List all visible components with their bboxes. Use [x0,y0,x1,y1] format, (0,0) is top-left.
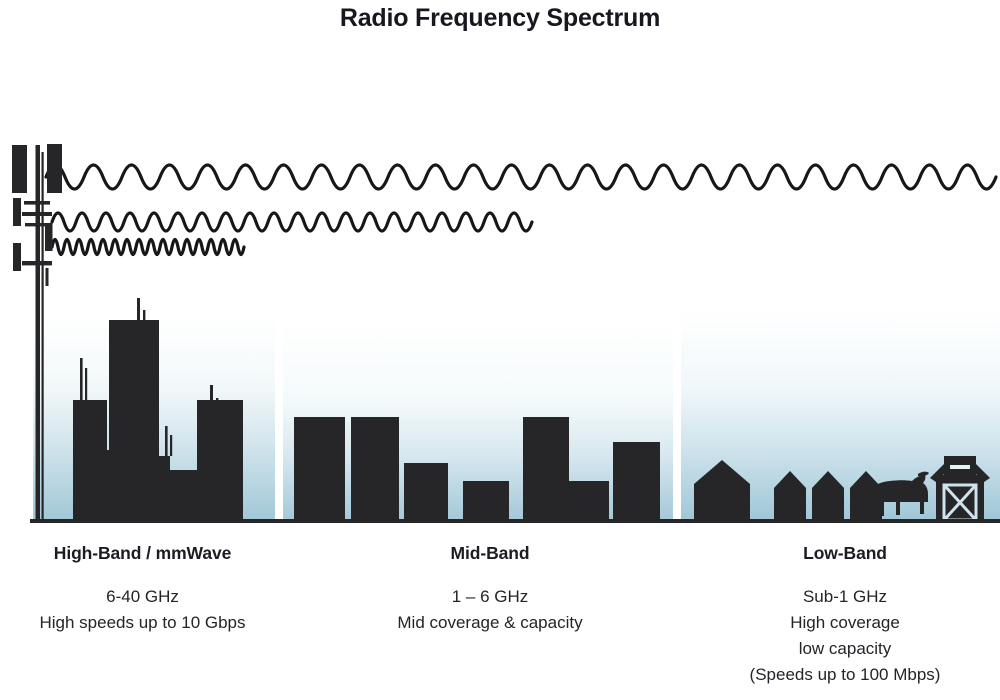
band-line-speed-low: (Speeds up to 100 Mbps) [690,662,1000,688]
building [161,470,201,520]
building [404,463,448,520]
building [109,320,159,520]
wave-mid-band [52,213,532,231]
building-antenna [165,426,168,456]
building [613,442,660,520]
tower-panel-antenna-top-right [47,144,62,193]
tower-crossbar-third [25,223,47,226]
tower-crossbar-upper [24,201,50,205]
band-line-frequency-mid: 1 – 6 GHz [345,584,635,610]
building [523,417,569,520]
wave-high-band [52,240,244,255]
band-captions: High-Band / mmWave 6-40 GHz High speeds … [0,543,1000,700]
building [197,400,243,520]
tower-panel-antenna-bottom-left [13,243,21,271]
radio-waves [46,165,996,255]
band-heading-high: High-Band / mmWave [0,543,285,564]
building [73,400,107,520]
band-line-frequency-low: Sub-1 GHz [690,584,1000,610]
tower-panel-antenna-top-left [12,145,27,193]
band-column-high: High-Band / mmWave 6-40 GHz High speeds … [0,543,285,636]
building [351,417,399,520]
page-title: Radio Frequency Spectrum [0,4,1000,33]
wave-low-band [46,165,996,189]
band-line-capacity-low: low capacity [690,636,1000,662]
tower-crossbar-second [22,212,52,216]
infographic-root: Radio Frequency Spectrum [0,0,1000,700]
band-line-coverage-mid: Mid coverage & capacity [345,610,635,636]
spectrum-svg [0,130,1000,530]
spectrum-illustration [0,130,1000,530]
tower-crossbar-bottom [22,261,52,265]
building-antenna [170,435,172,456]
building [463,481,509,520]
ground-line [30,519,1000,523]
building [569,481,609,520]
building [294,417,345,520]
tower-panel-antenna-mid-left [13,198,21,226]
band-heading-mid: Mid-Band [345,543,635,564]
tower-foot-strut [46,268,49,286]
tower-panel-antenna-low-right [45,223,53,251]
band-line-speed-high: High speeds up to 10 Gbps [0,610,285,636]
band-column-low: Low-Band Sub-1 GHz High coverage low cap… [690,543,1000,688]
band-line-frequency-high: 6-40 GHz [0,584,285,610]
tower-mast-right [42,152,44,520]
band-heading-low: Low-Band [690,543,1000,564]
band-line-coverage-low: High coverage [690,610,1000,636]
building-antenna [85,368,87,400]
building-antenna [80,358,83,400]
barn-hayloft-window [950,465,970,469]
band-column-mid: Mid-Band 1 – 6 GHz Mid coverage & capaci… [345,543,635,636]
